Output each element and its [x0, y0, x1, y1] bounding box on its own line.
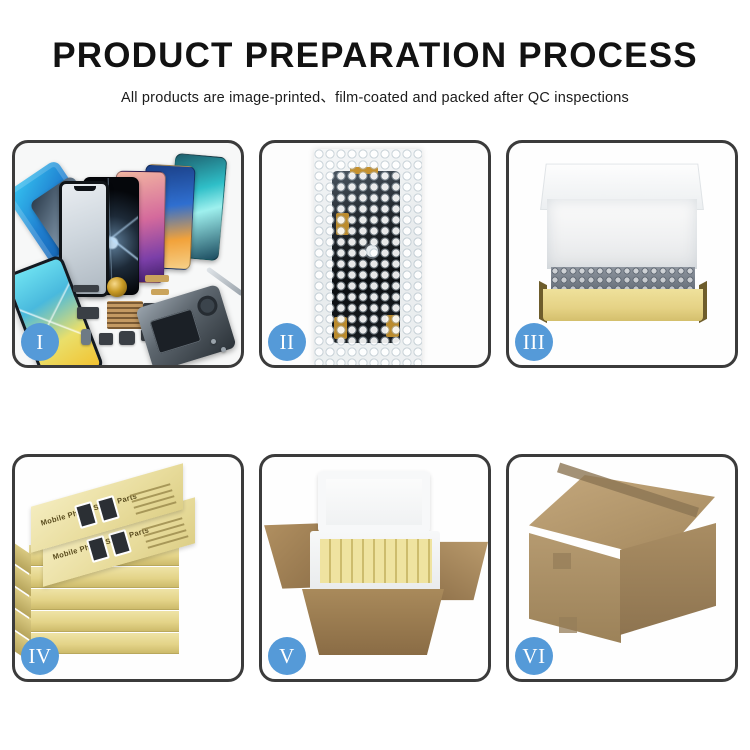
- header: PRODUCT PREPARATION PROCESS All products…: [0, 0, 750, 107]
- packed-product-boxes: [320, 539, 432, 583]
- box-front-panel: [543, 289, 703, 321]
- process-step-1[interactable]: I: [12, 140, 244, 368]
- speaker-chip-icon: [73, 285, 99, 292]
- flex-cable-small-icon: [151, 289, 169, 295]
- process-step-2[interactable]: II: [259, 140, 491, 368]
- carton-tape-patch: [559, 617, 577, 633]
- camera-lens-icon: [107, 277, 127, 297]
- process-step-6[interactable]: VI: [506, 454, 738, 682]
- foam-sheet-icon: [547, 199, 697, 269]
- stacked-box: [29, 611, 179, 631]
- camera-module-icon: [119, 331, 135, 345]
- opened-phone-board-icon: [135, 284, 237, 365]
- battery-cell-icon: [81, 329, 91, 345]
- process-step-5[interactable]: V: [259, 454, 491, 682]
- stacked-box: [29, 589, 179, 609]
- process-step-grid: I II: [12, 140, 738, 685]
- carton-tape-patch: [553, 553, 571, 569]
- page-subtitle: All products are image-printed、film-coat…: [0, 86, 750, 107]
- bracket-icon: [99, 333, 113, 345]
- foam-box-lid-icon: [318, 471, 430, 533]
- screw-icon: [221, 347, 226, 352]
- step-badge-2: II: [268, 323, 306, 361]
- process-step-4[interactable]: Mobile Phone Spare Parts Mobile Phone Sp…: [12, 454, 244, 682]
- step-badge-5: V: [268, 637, 306, 675]
- bubble-bag-icon: [314, 149, 422, 365]
- flex-cable-icon: [145, 275, 169, 282]
- bubble-texture: [314, 149, 422, 365]
- step-badge-4: IV: [21, 637, 59, 675]
- screw-icon: [211, 339, 216, 344]
- process-step-3[interactable]: III: [506, 140, 738, 368]
- step-badge-3: III: [515, 323, 553, 361]
- page-title: PRODUCT PREPARATION PROCESS: [0, 38, 750, 75]
- step-badge-1: I: [21, 323, 59, 361]
- product-preparation-infographic: PRODUCT PREPARATION PROCESS All products…: [0, 0, 750, 750]
- carton-body: [302, 589, 444, 655]
- small-part-icon: [77, 307, 99, 319]
- step-badge-6: VI: [515, 637, 553, 675]
